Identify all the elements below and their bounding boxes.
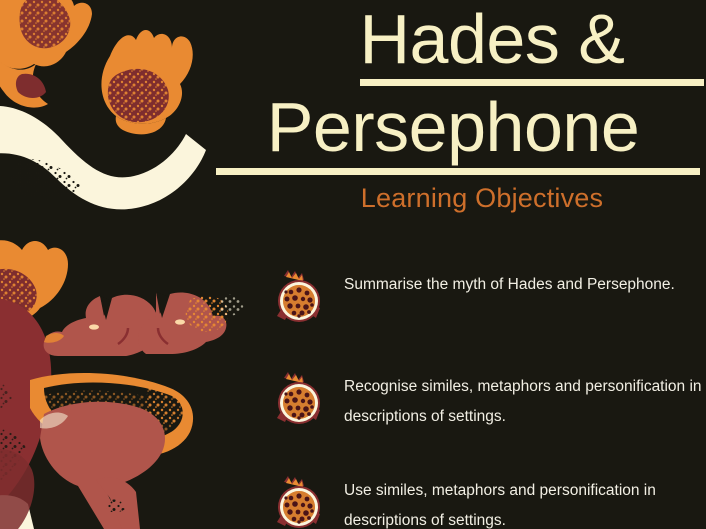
subtitle-learning-objectives: Learning Objectives bbox=[200, 183, 706, 214]
slide-canvas: Hades & Persephone Learning Objectives bbox=[0, 0, 706, 529]
objective-text: Use similes, metaphors and personificati… bbox=[344, 470, 704, 529]
pomegranate-icon bbox=[274, 370, 326, 430]
page-title-line-1: Hades & bbox=[200, 4, 706, 75]
page-title-line-2: Persephone bbox=[200, 92, 706, 163]
pomegranate-icon bbox=[274, 474, 326, 529]
objective-text: Summarise the myth of Hades and Persepho… bbox=[344, 264, 675, 300]
title-underline-1 bbox=[360, 79, 704, 86]
list-item: Recognise similes, metaphors and personi… bbox=[274, 366, 706, 432]
list-item: Summarise the myth of Hades and Persepho… bbox=[274, 264, 706, 328]
title-block: Hades & Persephone Learning Objectives bbox=[200, 4, 706, 214]
title-underline-2 bbox=[216, 168, 700, 175]
pomegranate-icon bbox=[274, 268, 326, 328]
objective-text: Recognise similes, metaphors and personi… bbox=[344, 366, 704, 432]
list-item: Use similes, metaphors and personificati… bbox=[274, 470, 706, 529]
objectives-list: Summarise the myth of Hades and Persepho… bbox=[274, 264, 706, 529]
